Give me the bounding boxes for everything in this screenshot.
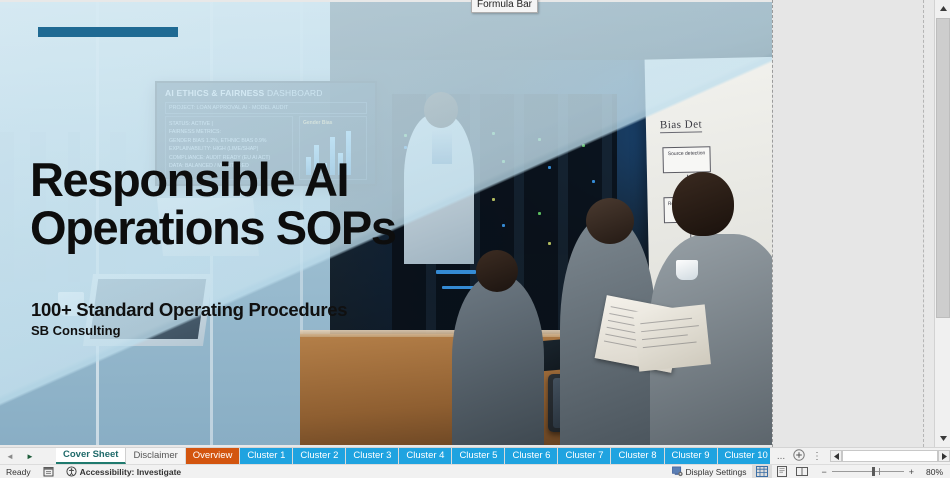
sheet-tab-tools[interactable]: ... ⋮: [770, 448, 828, 464]
excel-window: Bias Det Source detection Response workf…: [0, 0, 950, 478]
sheet-tab-cluster-8[interactable]: Cluster 8: [611, 448, 664, 464]
sheet-tab-overview[interactable]: Overview: [186, 448, 241, 464]
display-settings-icon: [672, 466, 683, 477]
sheet-tab-cluster-7[interactable]: Cluster 7: [558, 448, 611, 464]
zoom-in-button[interactable]: +: [904, 467, 919, 477]
accessibility-button[interactable]: Accessibility: Investigate: [60, 466, 188, 477]
split-handle[interactable]: ⋮: [808, 451, 826, 462]
chevron-right-icon: [942, 453, 947, 460]
sheet-tab-cluster-2[interactable]: Cluster 2: [293, 448, 346, 464]
accessibility-icon: [66, 466, 77, 477]
plus-circle-icon: [793, 449, 805, 461]
page-break-line: [772, 0, 773, 447]
page-break-view-icon: [796, 466, 808, 477]
sheet-nav-buttons[interactable]: ◄ ►: [0, 448, 56, 464]
title-line-2: Operations SOPs: [30, 205, 550, 251]
chevron-down-icon: [940, 436, 947, 441]
zoom-slider-thumb[interactable]: [872, 467, 875, 476]
sheet-nav-next-button[interactable]: ►: [20, 452, 40, 461]
sheet-tab-disclaimer[interactable]: Disclaimer: [126, 448, 185, 464]
vertical-scroll-thumb[interactable]: [936, 18, 950, 318]
page-break-line-secondary: [923, 0, 924, 447]
display-settings-button[interactable]: Display Settings: [666, 466, 753, 477]
normal-view-icon: [756, 466, 768, 477]
vertical-scrollbar[interactable]: [934, 0, 950, 447]
formula-bar-tooltip: Formula Bar: [471, 0, 538, 13]
status-bar[interactable]: Ready Accessibility: Investigate: [0, 464, 950, 478]
horizontal-scrollbar[interactable]: [830, 448, 950, 464]
subtitle: 100+ Standard Operating Procedures: [31, 299, 347, 321]
normal-view-button[interactable]: [752, 465, 772, 478]
page-title: Responsible AI Operations SOPs: [30, 157, 550, 251]
display-settings-label: Display Settings: [686, 467, 747, 477]
hscroll-right-button[interactable]: [938, 450, 950, 462]
record-macro-button[interactable]: [37, 466, 60, 477]
sheet-tab-cluster-5[interactable]: Cluster 5: [452, 448, 505, 464]
status-ready-label: Ready: [6, 467, 31, 477]
sheet-nav-prev-button[interactable]: ◄: [0, 452, 20, 461]
sheet-tab-cluster-4[interactable]: Cluster 4: [399, 448, 452, 464]
sheet-tab-cluster-3[interactable]: Cluster 3: [346, 448, 399, 464]
more-sheets-button[interactable]: ...: [772, 451, 790, 462]
sheet-tabs[interactable]: Cover SheetDisclaimerOverviewCluster 1Cl…: [56, 448, 770, 464]
zoom-level-label[interactable]: 80%: [923, 467, 950, 477]
sheet-tab-bar[interactable]: ◄ ► Cover SheetDisclaimerOverviewCluster…: [0, 447, 950, 464]
accent-bar: [38, 27, 178, 37]
scroll-down-button[interactable]: [935, 430, 950, 447]
zoom-out-button[interactable]: −: [816, 467, 831, 477]
hscroll-left-button[interactable]: [830, 450, 842, 462]
chevron-up-icon: [940, 6, 947, 11]
page-break-view-button[interactable]: [792, 465, 812, 478]
author-name: SB Consulting: [31, 323, 121, 338]
chevron-left-icon: [834, 453, 839, 460]
sheet-tab-cover-sheet[interactable]: Cover Sheet: [56, 448, 126, 464]
zoom-slider-track[interactable]: [832, 471, 904, 472]
hscroll-track[interactable]: [842, 450, 938, 462]
zoom-slider-midpoint: [879, 468, 880, 475]
status-ready: Ready: [0, 467, 37, 477]
zoom-slider[interactable]: − +: [812, 467, 923, 477]
sheet-tab-cluster-9[interactable]: Cluster 9: [665, 448, 718, 464]
add-sheet-button[interactable]: [790, 449, 808, 464]
empty-worksheet-region[interactable]: [772, 0, 925, 447]
accessibility-label: Accessibility: Investigate: [80, 467, 182, 477]
sheet-tab-cluster-6[interactable]: Cluster 6: [505, 448, 558, 464]
sheet-tab-cluster-10[interactable]: Cluster 10: [718, 448, 770, 464]
slide-image[interactable]: Bias Det Source detection Response workf…: [0, 2, 772, 445]
sheet-tab-cluster-1[interactable]: Cluster 1: [240, 448, 293, 464]
page-layout-view-button[interactable]: [772, 465, 792, 478]
scroll-up-button[interactable]: [935, 0, 950, 17]
worksheet-area[interactable]: Bias Det Source detection Response workf…: [0, 0, 950, 447]
record-macro-icon: [43, 466, 54, 477]
title-line-1: Responsible AI: [30, 157, 550, 203]
page-layout-view-icon: [776, 466, 788, 477]
